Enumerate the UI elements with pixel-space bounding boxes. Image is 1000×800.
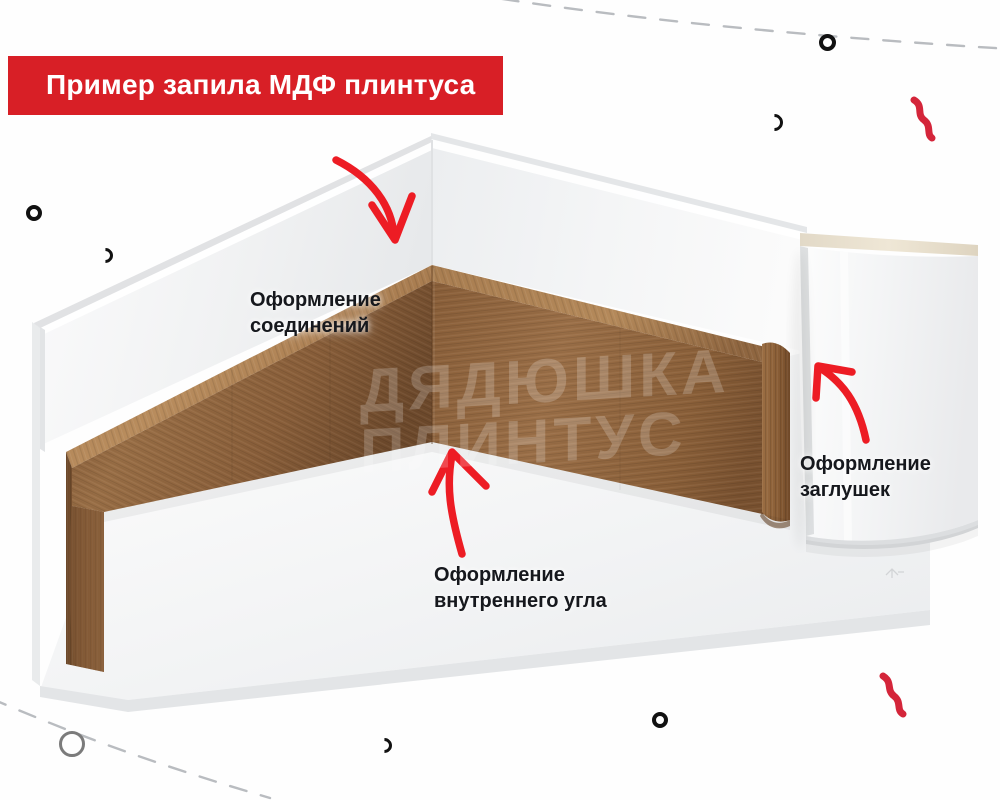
image-canvas: ДЯДЮШКА ПЛИНТУС Пример запила МДФ плинту… <box>0 0 1000 800</box>
plinth-corner-illustration <box>0 0 1000 800</box>
title-banner: Пример запила МДФ плинтуса <box>8 56 503 115</box>
callout-inner-corner: Оформление внутреннего угла <box>434 563 607 614</box>
callout-joints: Оформление соединений <box>250 288 381 339</box>
end-cap-panel <box>799 233 978 557</box>
callout-caps: Оформление заглушек <box>800 452 931 503</box>
